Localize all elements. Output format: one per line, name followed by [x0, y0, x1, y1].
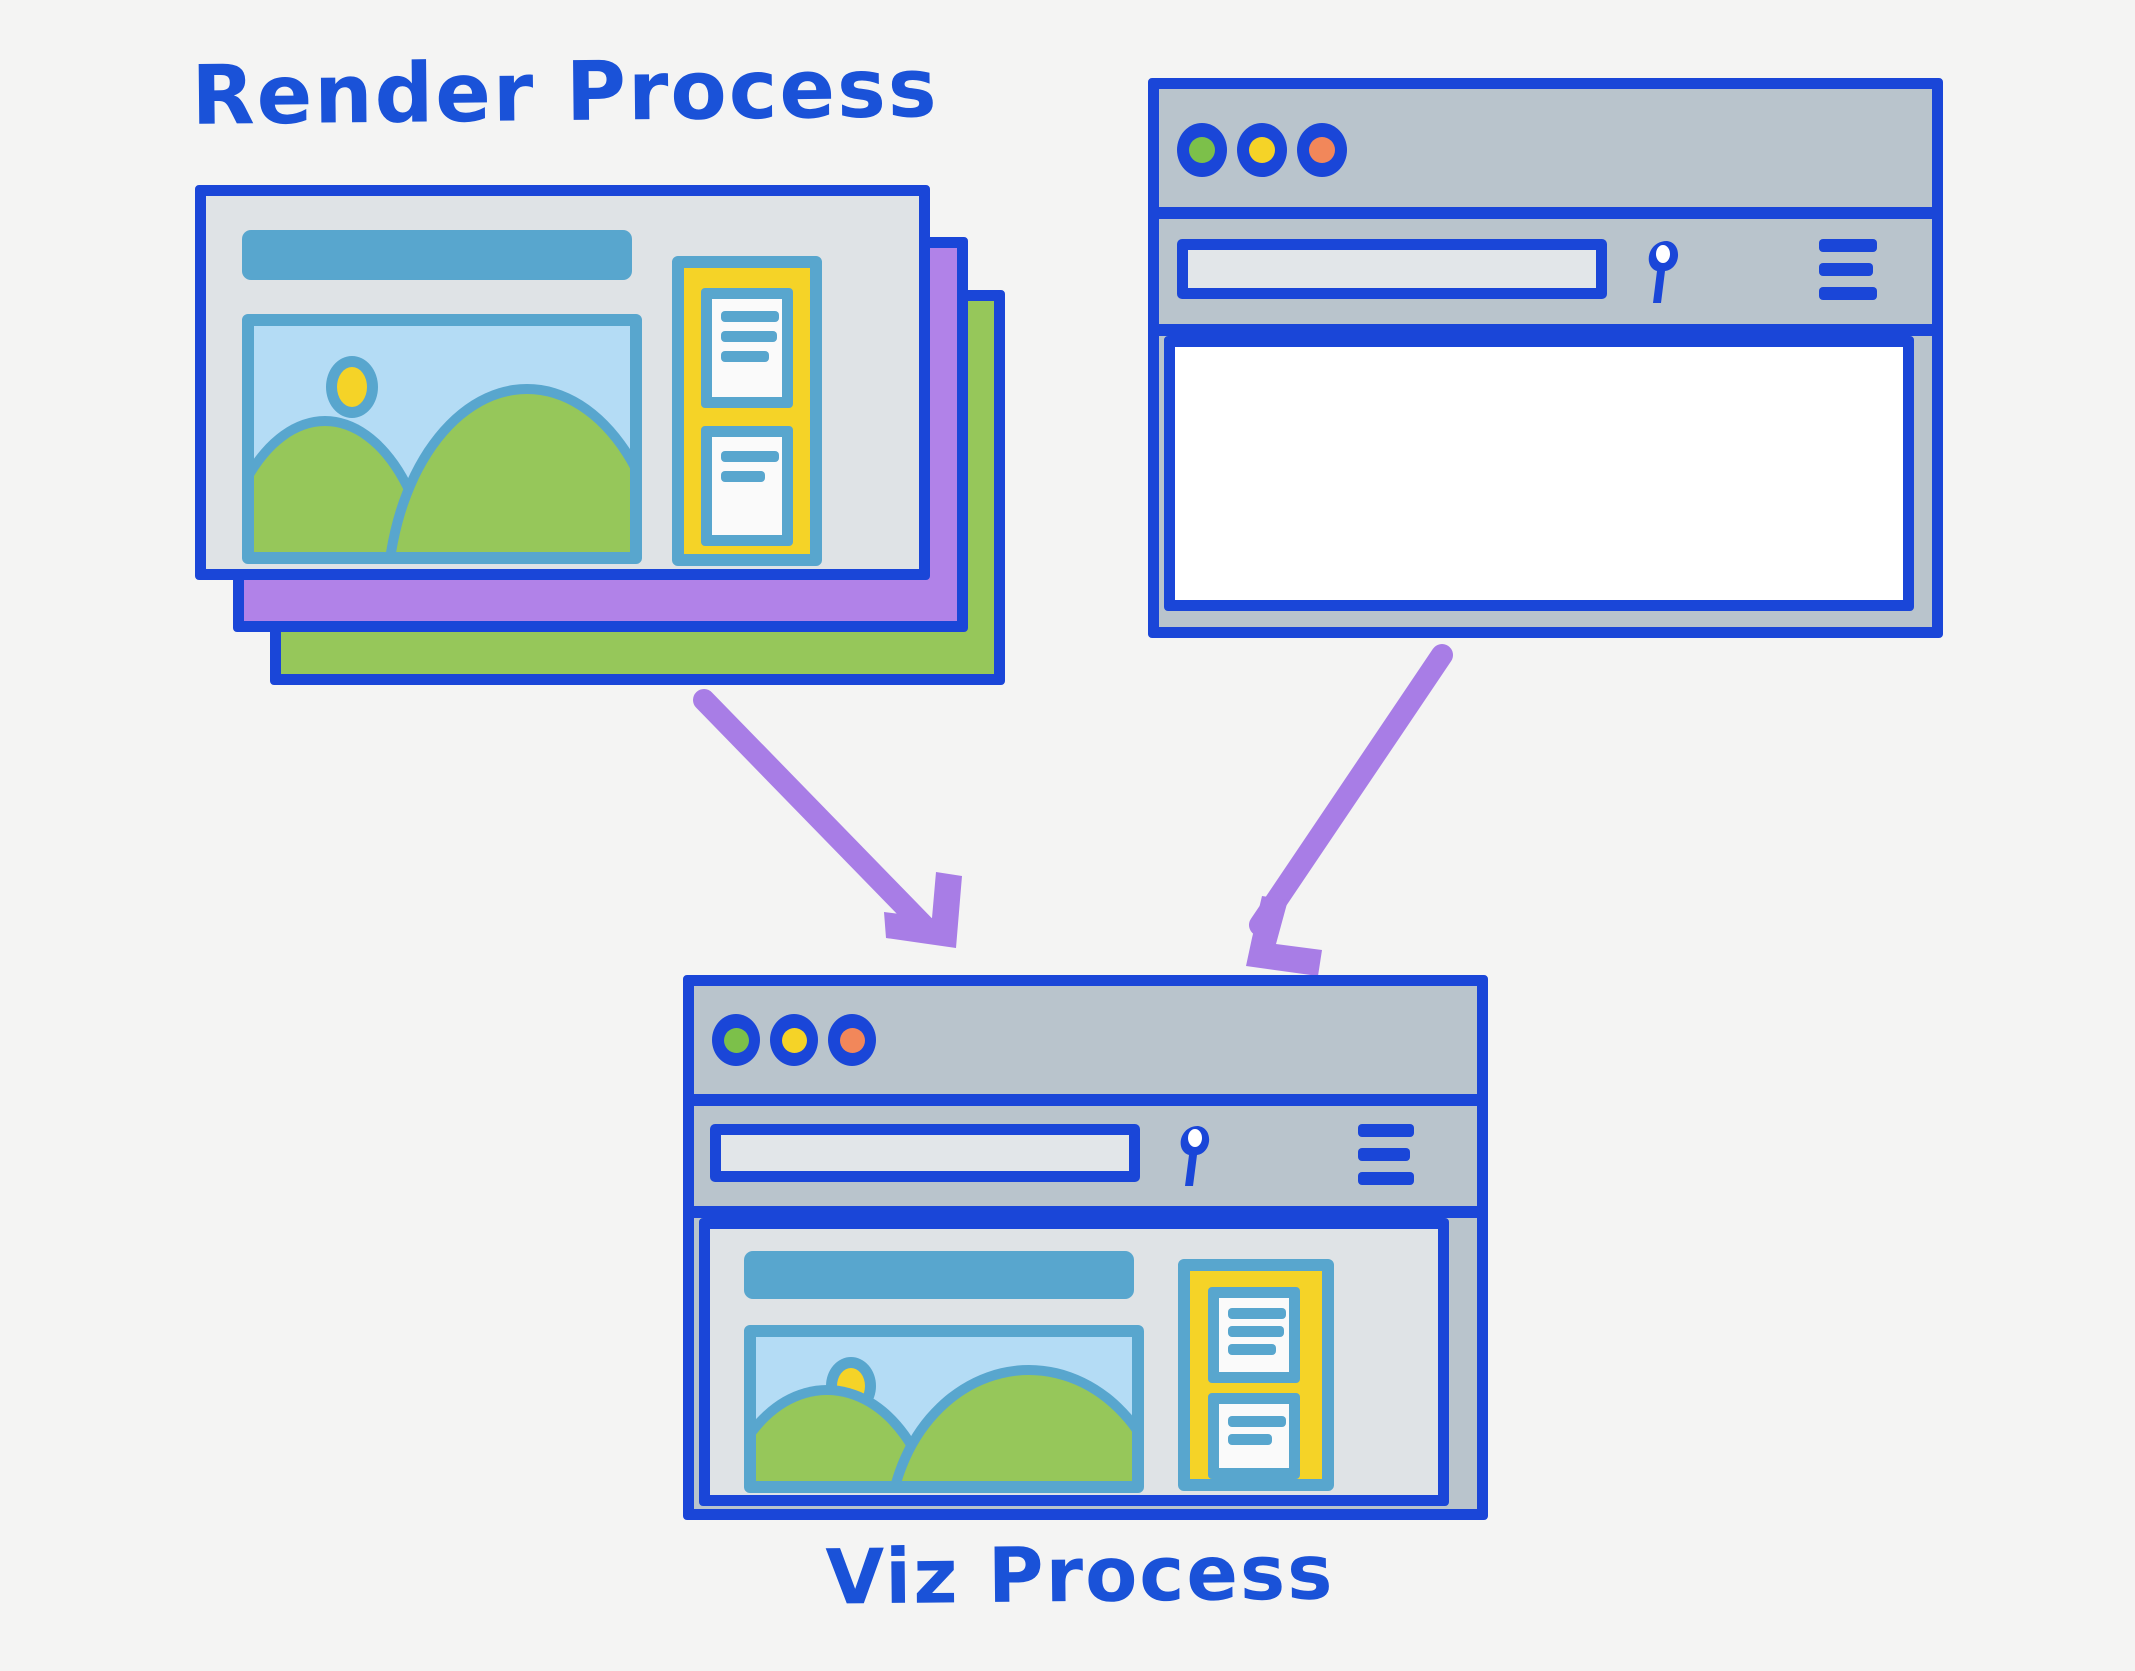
- card-text-line: [721, 451, 779, 462]
- card-text-line: [1228, 1434, 1272, 1445]
- render-page-mock: [206, 196, 919, 569]
- browser-toolbar: [1159, 219, 1932, 324]
- address-bar-input[interactable]: [1177, 239, 1607, 299]
- title-bar-divider: [694, 1094, 1477, 1106]
- page-headline-bar: [744, 1251, 1134, 1299]
- dot-orange[interactable]: [828, 1014, 876, 1066]
- toolbar-divider: [1159, 324, 1932, 336]
- card-text-line: [721, 351, 769, 362]
- browser-process-window[interactable]: Browser Process: [1148, 78, 1943, 638]
- viz-content-area: [699, 1218, 1449, 1506]
- diagram-canvas: Render Process: [0, 0, 2135, 1671]
- magnifier-icon[interactable]: [1160, 1116, 1228, 1194]
- viz-title-bar: [694, 986, 1477, 1094]
- page-hero-image: [242, 314, 642, 564]
- dot-yellow[interactable]: [770, 1014, 818, 1066]
- arrow-browser-to-viz: [1246, 655, 1442, 976]
- title-bar-divider: [1159, 207, 1932, 219]
- render-process-label: Render Process: [150, 46, 981, 141]
- render-window-sheet-front[interactable]: [195, 185, 930, 580]
- card-text-line: [1228, 1308, 1286, 1319]
- card-text-line: [1228, 1344, 1276, 1355]
- dot-green[interactable]: [712, 1014, 760, 1066]
- page-side-panel: [1178, 1259, 1334, 1491]
- card-text-line: [1228, 1416, 1286, 1427]
- card-text-line: [721, 331, 777, 342]
- hamburger-menu-icon[interactable]: [1358, 1124, 1418, 1184]
- side-card-2: [1208, 1393, 1300, 1479]
- side-card-2: [701, 426, 793, 546]
- card-text-line: [721, 471, 765, 482]
- page-headline-bar: [242, 230, 632, 280]
- toolbar-divider: [694, 1206, 1477, 1218]
- viz-toolbar: [694, 1106, 1477, 1206]
- magnifier-icon[interactable]: [1627, 231, 1697, 311]
- address-bar-input[interactable]: [710, 1124, 1140, 1182]
- side-card-1: [1208, 1287, 1300, 1383]
- dot-orange[interactable]: [1297, 123, 1347, 177]
- sun-icon: [326, 356, 378, 418]
- browser-title-bar: [1159, 89, 1932, 207]
- page-hero-image: [744, 1325, 1144, 1493]
- render-process-window-stack[interactable]: [195, 185, 1005, 685]
- page-side-panel: [672, 256, 822, 566]
- card-text-line: [721, 311, 779, 322]
- arrow-render-to-viz: [704, 700, 962, 948]
- side-card-1: [701, 288, 793, 408]
- viz-process-window[interactable]: [683, 975, 1488, 1520]
- viz-process-label: Viz Process: [660, 1531, 1501, 1620]
- browser-content-area: [1164, 336, 1914, 611]
- hamburger-menu-icon[interactable]: [1819, 239, 1881, 301]
- dot-yellow[interactable]: [1237, 123, 1287, 177]
- card-text-line: [1228, 1326, 1284, 1337]
- viz-page-mock: [710, 1229, 1438, 1495]
- dot-green[interactable]: [1177, 123, 1227, 177]
